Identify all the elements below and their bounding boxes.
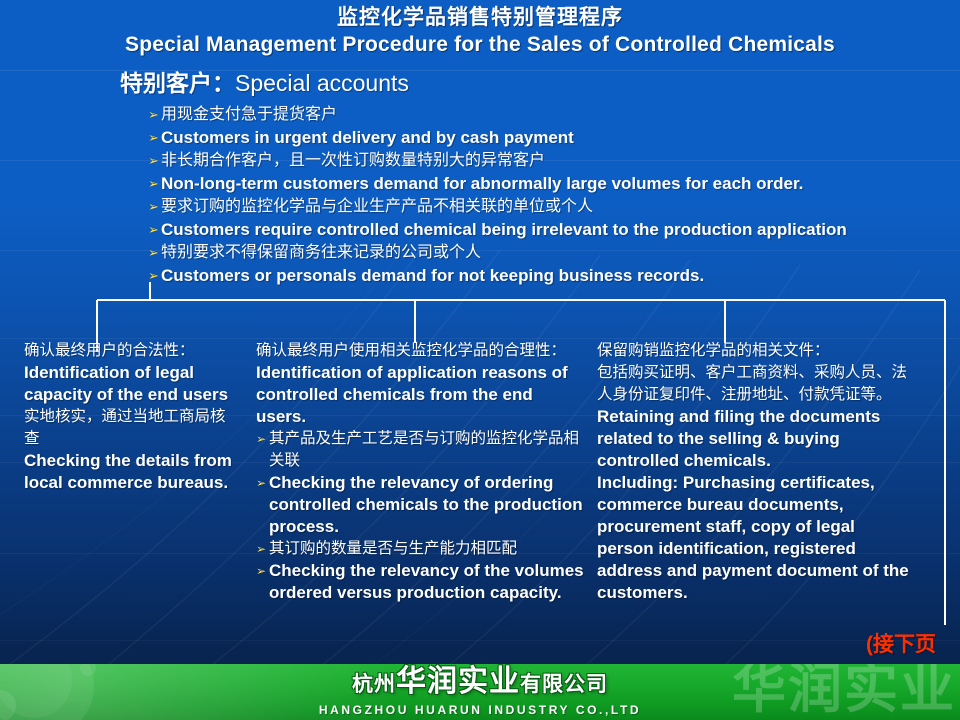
column-line-text: 其产品及生产工艺是否与订购的监控化学品相关联 — [269, 428, 586, 472]
column-line-text: 确认最终用户的合法性： — [24, 340, 239, 362]
column-bullet-item: ➢Checking the relevancy of ordering cont… — [256, 472, 586, 538]
company-brand-chinese: 华润实业 — [396, 665, 520, 698]
column-bullet-item: ➢Checking the relevancy of the volumes o… — [256, 560, 586, 604]
footer-logo-text: 杭州华润实业有限公司 HANGZHOU HUARUN INDUSTRY CO.,… — [0, 664, 960, 718]
bullet-arrow-icon: ➢ — [256, 538, 269, 560]
column-line-text: Checking the relevancy of ordering contr… — [269, 472, 586, 538]
column-line-text: 保留购销监控化学品的相关文件： — [597, 340, 912, 362]
column-line-text: 其订购的数量是否与生产能力相匹配 — [269, 538, 517, 560]
company-city-chinese: 杭州 — [352, 673, 396, 696]
column-line-text: Retaining and filing the documents relat… — [597, 406, 912, 472]
column-bullet-item: ➢其订购的数量是否与生产能力相匹配 — [256, 538, 586, 560]
footer-logo-band: 华润实业 杭州华润实业有限公司 HANGZHOU HUARUN INDUSTRY… — [0, 664, 960, 720]
slide-canvas: 监控化学品销售特别管理程序 Special Management Procedu… — [0, 0, 960, 720]
company-name-chinese: 杭州华润实业有限公司 — [0, 664, 960, 703]
column-line-text: Including: Purchasing certificates, comm… — [597, 472, 912, 604]
column-line-text: Identification of application reasons of… — [256, 362, 586, 428]
column-retaining-and-filing-documents: 保留购销监控化学品的相关文件：包括购买证明、客户工商资料、采购人员、法人身份证复… — [597, 340, 912, 604]
column-line-text: 确认最终用户使用相关监控化学品的合理性： — [256, 340, 586, 362]
column-line-text: Checking the details from local commerce… — [24, 450, 239, 494]
company-name-english: HANGZHOU HUARUN INDUSTRY CO.,LTD — [0, 703, 960, 718]
bullet-arrow-icon: ➢ — [256, 472, 269, 494]
column-bullet-item: ➢其产品及生产工艺是否与订购的监控化学品相关联 — [256, 428, 586, 472]
continued-next-page-note: (接下页 — [866, 628, 936, 658]
column-line-text: 实地核实，通过当地工商局核查 — [24, 406, 239, 450]
bullet-arrow-icon: ➢ — [256, 560, 269, 582]
bullet-arrow-icon: ➢ — [256, 428, 269, 450]
column-identification-of-application-reasons: 确认最终用户使用相关监控化学品的合理性：Identification of ap… — [256, 340, 586, 604]
column-line-text: Identification of legal capacity of the … — [24, 362, 239, 406]
company-suffix-chinese: 有限公司 — [520, 673, 608, 696]
column-identification-of-legal-capacity: 确认最终用户的合法性：Identification of legal capac… — [24, 340, 239, 494]
column-line-text: 包括购买证明、客户工商资料、采购人员、法人身份证复印件、注册地址、付款凭证等。 — [597, 362, 912, 406]
column-line-text: Checking the relevancy of the volumes or… — [269, 560, 586, 604]
